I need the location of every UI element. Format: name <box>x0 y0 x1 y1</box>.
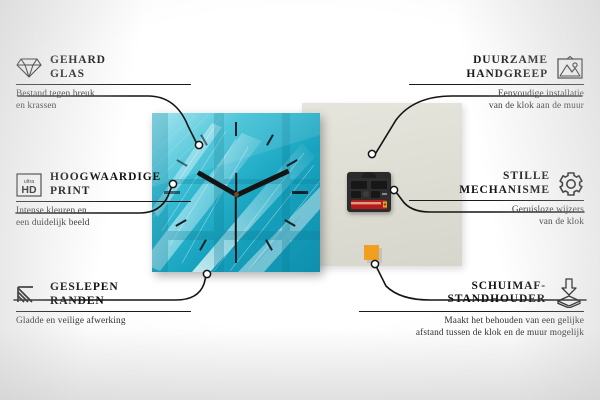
clock-tick-12 <box>235 122 237 136</box>
clock-mechanism <box>347 172 391 212</box>
clock-tick-6 <box>235 249 237 263</box>
feature-desc-line2: van de klok <box>409 217 584 228</box>
feature-title-line2: GLAS <box>50 68 106 82</box>
feature-desc-line2: afstand tussen de klok en de muur mogeli… <box>359 328 584 339</box>
feature-duurzame-handgreep: DUURZAME HANDGREEP Eenvoudige installati… <box>409 54 584 112</box>
mechanism-graphic <box>347 172 391 212</box>
feature-desc-line1: Geruisloze wijzers <box>409 205 584 216</box>
feature-title-line1: GESLEPEN <box>50 281 119 295</box>
diamond-icon <box>16 57 42 79</box>
feature-desc-line1: Gladde en veilige afwerking <box>16 316 191 327</box>
feature-desc-line1: Maakt het behouden van een gelijke <box>359 316 584 327</box>
gear-icon <box>558 171 584 197</box>
feature-title-line1: STILLE <box>459 170 550 184</box>
feature-title-line1: DUURZAME <box>466 54 548 68</box>
feature-divider <box>359 311 584 312</box>
press-down-pad-icon <box>554 278 584 308</box>
feature-divider <box>16 311 191 312</box>
feature-desc-line2: van de klok aan de muur <box>409 101 584 112</box>
feature-desc-line2: en krassen <box>16 101 191 112</box>
feature-header: STILLE MECHANISME <box>409 170 584 197</box>
foam-spacer <box>364 245 379 260</box>
clock-second-hand <box>235 194 237 250</box>
feature-divider <box>16 201 191 202</box>
ultra-hd-label-bottom: HD <box>21 184 37 196</box>
feature-description: Eenvoudige installatie van de klok aan d… <box>409 89 584 112</box>
feature-schuimafstandhouder: SCHUIMAF- STANDHOUDER Maakt het behouden… <box>359 278 584 339</box>
feature-header: ultra HD HOOGWAARDIGE PRINT <box>16 171 191 198</box>
clock-second-hand-tail <box>235 172 237 194</box>
feature-header: DUURZAME HANDGREEP <box>409 54 584 81</box>
feature-description: Maakt het behouden van een gelijke afsta… <box>359 316 584 339</box>
feature-title-line2: PRINT <box>50 185 161 199</box>
feature-description: Gladde en veilige afwerking <box>16 316 191 327</box>
feature-geslepen-randen: GESLEPEN RANDEN Gladde en veilige afwerk… <box>16 281 191 328</box>
feature-hoogwaardige-print: ultra HD HOOGWAARDIGE PRINT Intense kleu… <box>16 171 191 229</box>
feature-divider <box>409 200 584 201</box>
feature-desc-line2: een duidelijk beeld <box>16 218 191 229</box>
feature-title-line1: GEHARD <box>50 54 106 68</box>
feature-title-line1: HOOGWAARDIGE <box>50 171 161 185</box>
feature-desc-line1: Eenvoudige installatie <box>409 89 584 100</box>
feature-desc-line1: Bestand tegen breuk <box>16 89 191 100</box>
ultra-hd-icon: ultra HD <box>16 173 42 197</box>
clock-tick-3 <box>292 191 308 194</box>
feature-stille-mechanisme: STILLE MECHANISME Geruisloze wijzers van… <box>409 170 584 228</box>
feature-description: Geruisloze wijzers van de klok <box>409 205 584 228</box>
feature-title-line2: STANDHOUDER <box>447 293 546 307</box>
feature-title-line2: RANDEN <box>50 295 119 309</box>
feature-title-line2: MECHANISME <box>459 184 550 198</box>
beveled-edges-icon <box>16 284 42 306</box>
feature-header: GESLEPEN RANDEN <box>16 281 191 308</box>
feature-title-line2: HANDGREEP <box>466 68 548 82</box>
infographic-canvas: GEHARD GLAS Bestand tegen breuk en krass… <box>0 0 600 400</box>
feature-description: Intense kleuren en een duidelijk beeld <box>16 206 191 229</box>
picture-frame-icon <box>556 56 584 80</box>
feature-title-line1: SCHUIMAF- <box>447 280 546 294</box>
feature-header: SCHUIMAF- STANDHOUDER <box>359 278 584 308</box>
feature-divider <box>16 84 191 85</box>
feature-gehard-glas: GEHARD GLAS Bestand tegen breuk en krass… <box>16 54 191 112</box>
feature-description: Bestand tegen breuk en krassen <box>16 89 191 112</box>
clock-center-pin <box>234 192 239 197</box>
feature-header: GEHARD GLAS <box>16 54 191 81</box>
feature-desc-line1: Intense kleuren en <box>16 206 191 217</box>
feature-divider <box>409 84 584 85</box>
